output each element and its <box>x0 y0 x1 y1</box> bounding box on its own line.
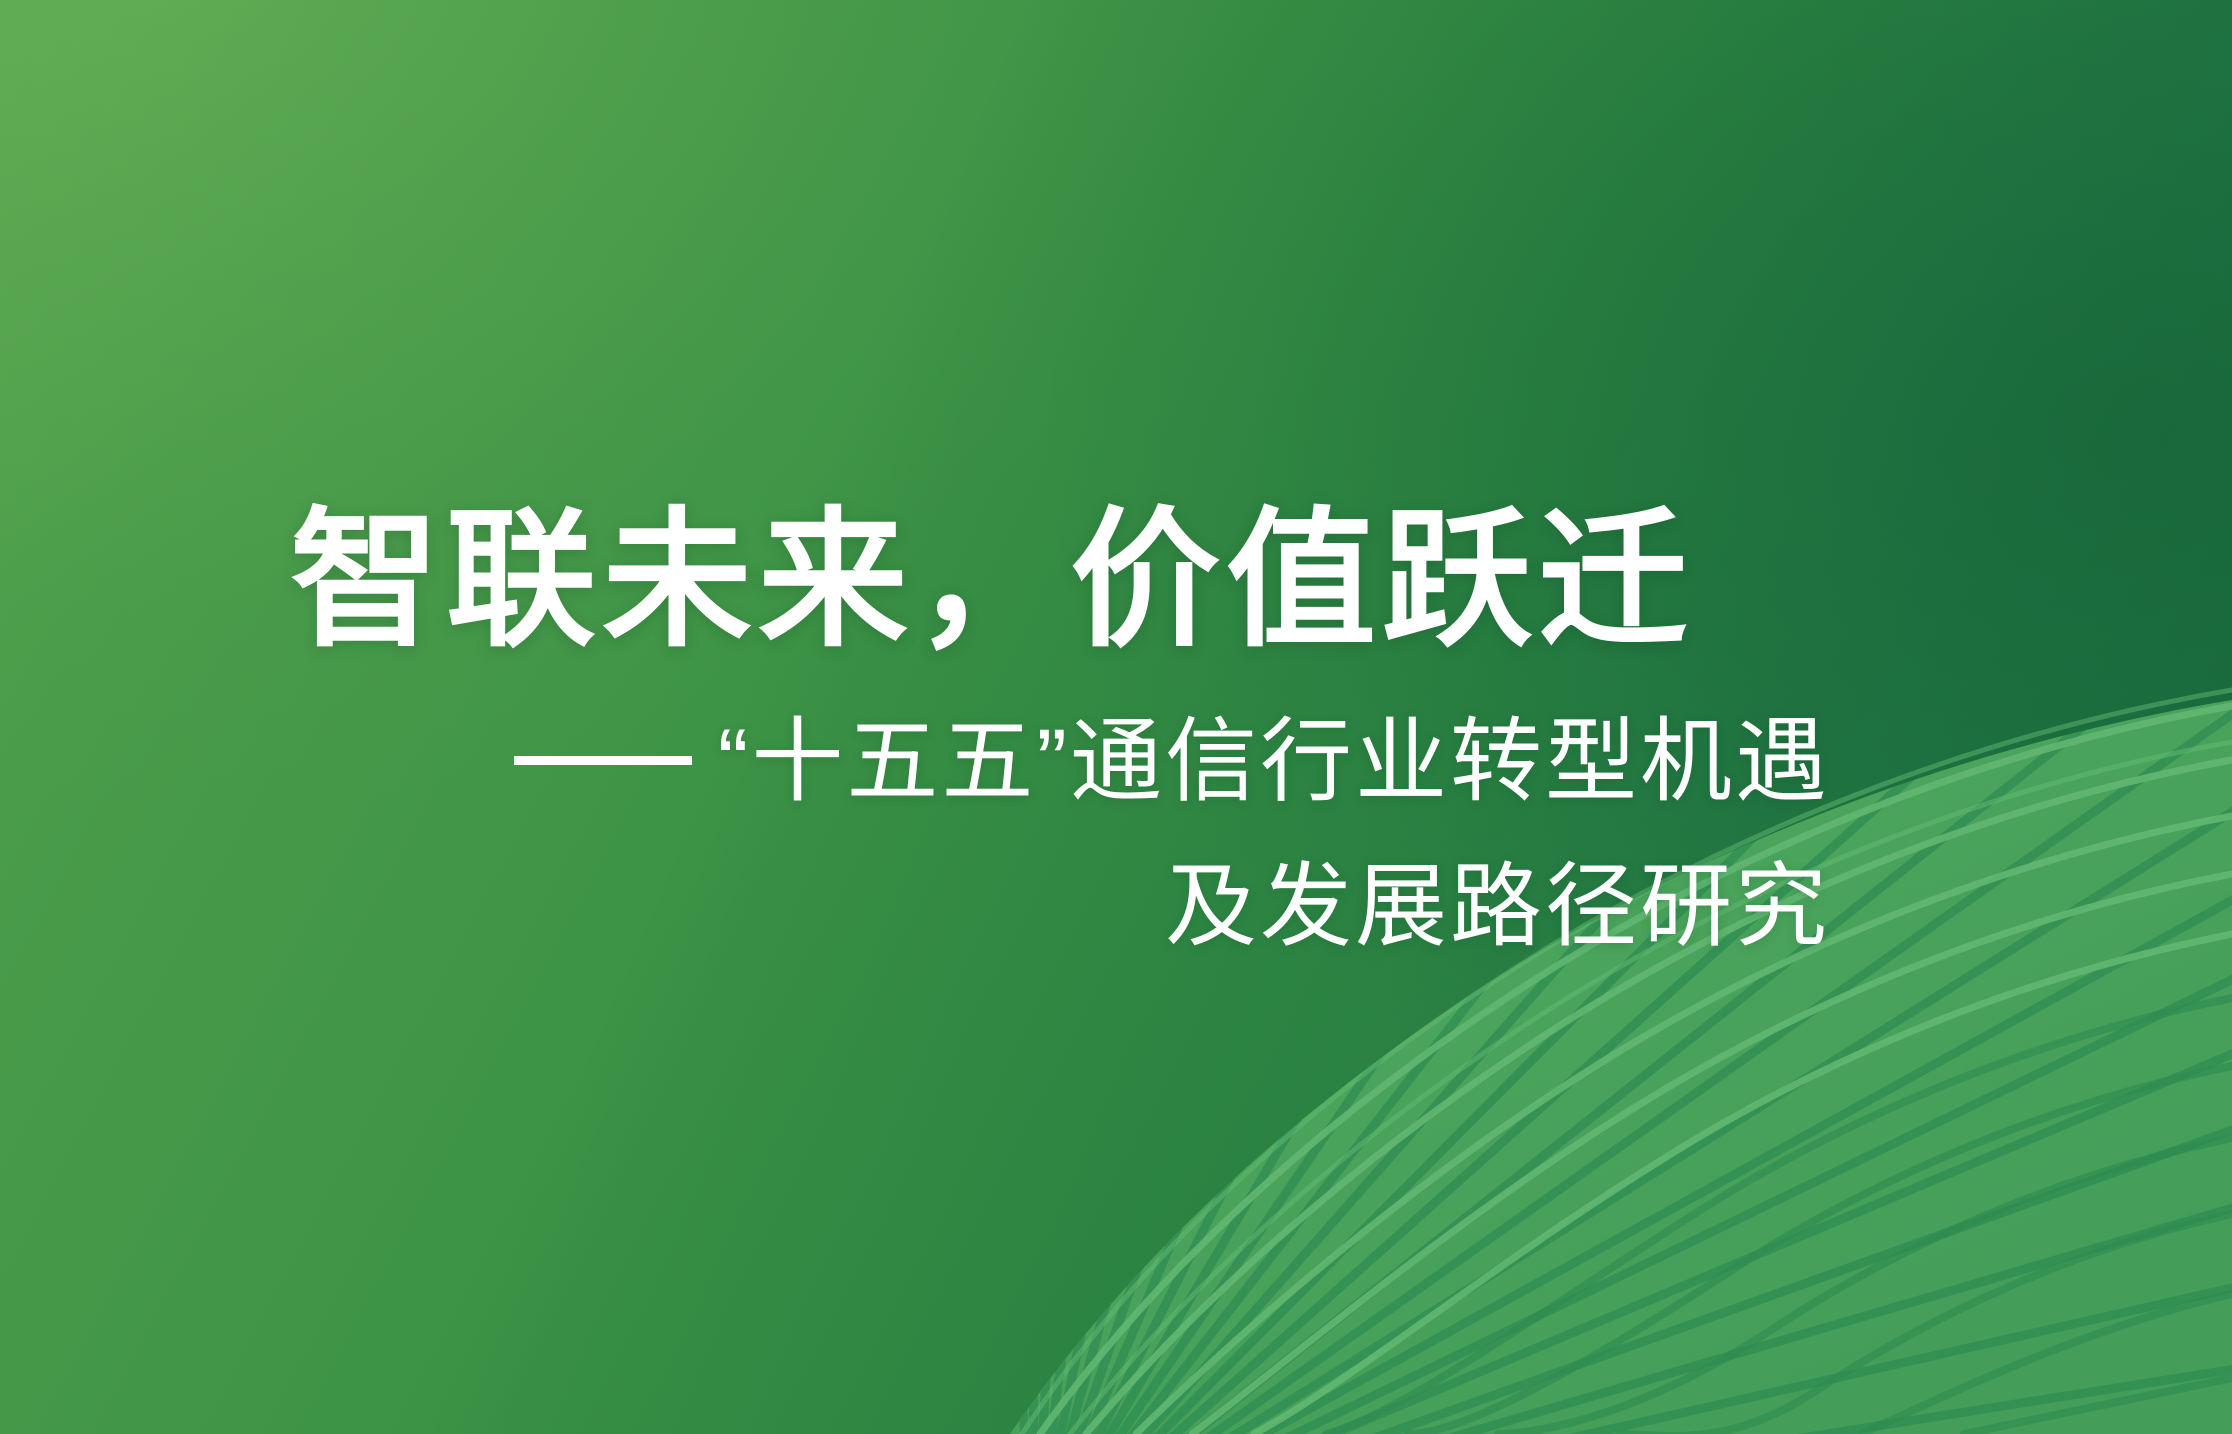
slide-subtitle: “十五五”通信行业转型机遇 及发展路径研究 <box>290 690 1830 981</box>
slide-title: 智联未来，价值跃迁 <box>290 499 1820 661</box>
subtitle-line-1-text: “十五五”通信行业转型机遇 <box>718 711 1830 813</box>
subtitle-line-2: 及发展路径研究 <box>290 835 1830 980</box>
text-block: 智联未来，价值跃迁 “十五五”通信行业转型机遇 及发展路径研究 <box>0 0 1860 1434</box>
cover-slide: 智联未来，价值跃迁 “十五五”通信行业转型机遇 及发展路径研究 <box>0 0 2232 1434</box>
subtitle-line-1: “十五五”通信行业转型机遇 <box>290 690 1830 835</box>
em-dash-rule <box>514 756 692 765</box>
